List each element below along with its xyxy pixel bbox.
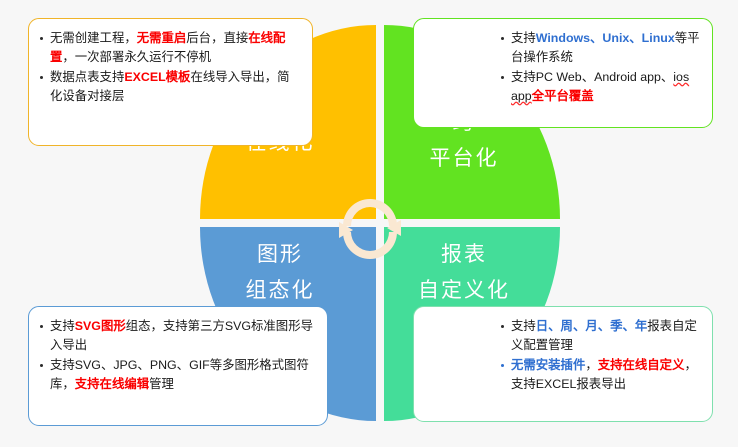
list-item: 支持SVG图形组态，支持第三方SVG标准图形导入导出	[39, 317, 317, 355]
list-item: 支持Windows、Unix、Linux等平台操作系统	[500, 29, 702, 67]
list-item: 无需安装插件，支持在线自定义，支持EXCEL报表导出	[500, 356, 702, 394]
list-item: 支持SVG、JPG、PNG、GIF等多图形格式图符库，支持在线编辑管理	[39, 356, 317, 394]
callout-cross-platform[interactable]: 支持Windows、Unix、Linux等平台操作系统 支持PC Web、And…	[413, 18, 713, 128]
list-item: 无需创建工程，无需重启后台，直接在线配置，一次部署永久运行不停机	[39, 29, 300, 67]
callout-graphics-list: 支持SVG图形组态，支持第三方SVG标准图形导入导出 支持SVG、JPG、PNG…	[39, 317, 317, 394]
list-item: 支持PC Web、Android app、ios app全平台覆盖	[500, 68, 702, 106]
callout-report[interactable]: 支持日、周、月、季、年报表自定义配置管理 无需安装插件，支持在线自定义，支持EX…	[413, 306, 713, 422]
callout-online[interactable]: 无需创建工程，无需重启后台，直接在线配置，一次部署永久运行不停机 数据点表支持E…	[28, 18, 313, 146]
callout-cross-platform-list: 支持Windows、Unix、Linux等平台操作系统 支持PC Web、And…	[500, 29, 702, 106]
callout-online-list: 无需创建工程，无需重启后台，直接在线配置，一次部署永久运行不停机 数据点表支持E…	[39, 29, 300, 106]
callout-report-list: 支持日、周、月、季、年报表自定义配置管理 无需安装插件，支持在线自定义，支持EX…	[500, 317, 702, 394]
diagram-canvas: 在线化 跨 平台化 图形 组态化 报表 自定义化 无需创建工程，无需重启后台，直…	[0, 0, 738, 447]
callout-graphics[interactable]: 支持SVG图形组态，支持第三方SVG标准图形导入导出 支持SVG、JPG、PNG…	[28, 306, 328, 426]
list-item: 支持日、周、月、季、年报表自定义配置管理	[500, 317, 702, 355]
list-item: 数据点表支持EXCEL模板在线导入导出，简化设备对接层	[39, 68, 300, 106]
circular-arrows-icon	[331, 190, 409, 268]
